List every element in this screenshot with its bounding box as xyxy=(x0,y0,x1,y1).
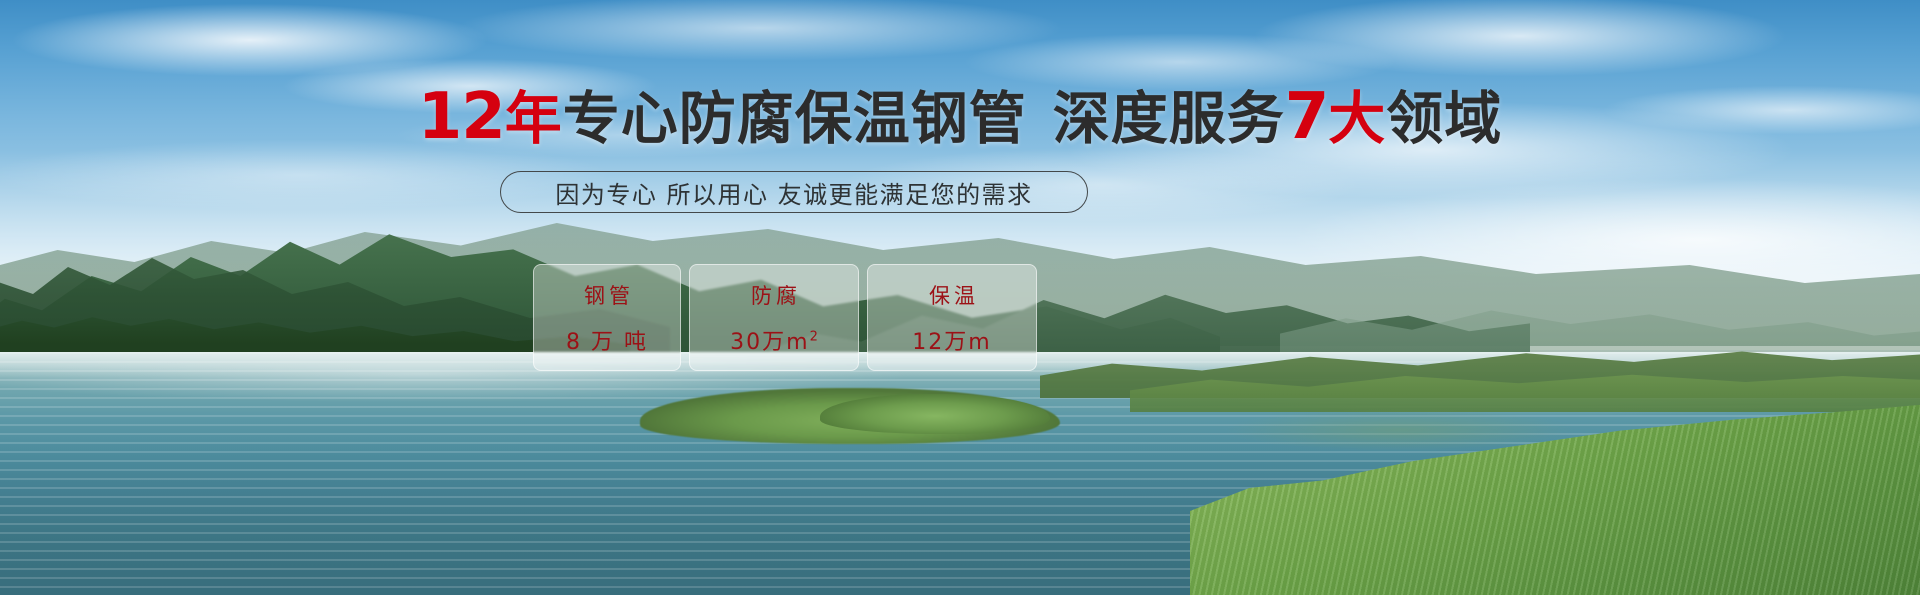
headline-main-text: 专心防腐保温钢管 xyxy=(563,86,1027,152)
banner-subtitle-pill: 因为专心 所以用心 友诚更能满足您的需求 xyxy=(500,171,1088,213)
stat-card-value-text: 30万m xyxy=(730,330,809,355)
grass-island-small xyxy=(820,394,1050,434)
banner-headline: 12年专心防腐保温钢管深度服务7大领域 xyxy=(0,86,1920,150)
headline-years-unit: 年 xyxy=(505,86,563,152)
headline-fields-unit: 大 xyxy=(1328,86,1386,152)
stat-card-label: 保温 xyxy=(925,280,979,310)
stat-card-steel-pipe[interactable]: 钢管 8 万 吨 xyxy=(533,264,681,371)
headline-years-number: 12 xyxy=(418,80,505,154)
stat-card-value-text: 12万m xyxy=(912,330,991,355)
stat-card-insulation[interactable]: 保温 12万m xyxy=(867,264,1037,371)
headline-service-text: 深度服务 xyxy=(1053,86,1285,152)
hero-banner: 12年专心防腐保温钢管深度服务7大领域 因为专心 所以用心 友诚更能满足您的需求… xyxy=(0,0,1920,595)
stat-card-value: 12万m xyxy=(912,324,991,356)
stat-card-value: 8 万 吨 xyxy=(566,324,648,356)
stat-card-label: 钢管 xyxy=(580,280,634,310)
stat-card-value-text: 8 万 吨 xyxy=(566,330,648,355)
stat-card-value: 30万m2 xyxy=(730,324,818,356)
stat-card-label: 防腐 xyxy=(747,280,801,310)
banner-subtitle-text: 因为专心 所以用心 友诚更能满足您的需求 xyxy=(555,175,1032,210)
stat-card-group: 钢管 8 万 吨 防腐 30万m2 保温 12万m xyxy=(533,264,1037,371)
headline-fields-tail: 领域 xyxy=(1386,86,1502,152)
stat-card-value-superscript: 2 xyxy=(810,329,818,344)
stat-card-anticorrosion[interactable]: 防腐 30万m2 xyxy=(689,264,859,371)
headline-fields-number: 7 xyxy=(1285,80,1329,154)
